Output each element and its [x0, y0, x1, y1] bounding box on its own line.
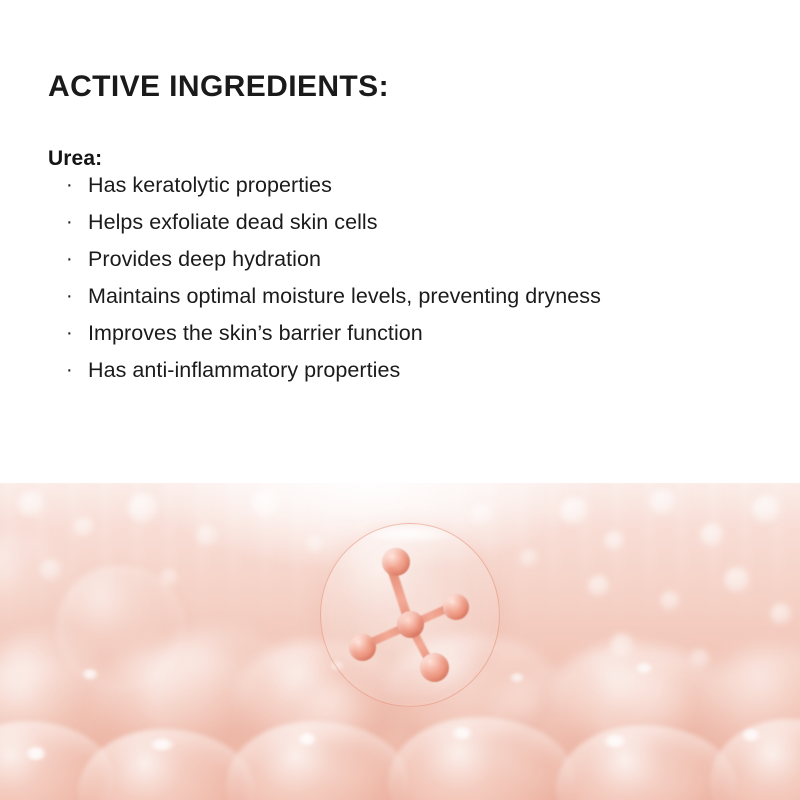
list-item-label: Helps exfoliate dead skin cells	[88, 210, 378, 234]
cell-highlight	[298, 733, 316, 745]
hero-image	[0, 483, 800, 800]
molecule-icon	[321, 524, 499, 706]
list-item: · Helps exfoliate dead skin cells	[62, 207, 622, 238]
bullet-icon: ·	[66, 318, 73, 349]
list-item-label: Provides deep hydration	[88, 247, 321, 271]
cell-highlight	[604, 735, 626, 747]
list-item: · Has keratolytic properties	[62, 170, 622, 201]
cell-highlight	[26, 747, 46, 760]
molecule-hub	[397, 611, 424, 638]
page-title: ACTIVE INGREDIENTS:	[48, 70, 389, 103]
cell-highlight	[510, 673, 524, 682]
bullet-icon: ·	[66, 170, 73, 201]
bullet-icon: ·	[66, 355, 73, 386]
ingredient-benefit-list: · Has keratolytic properties · Helps exf…	[62, 170, 622, 392]
ingredient-name-heading: Urea:	[48, 146, 102, 171]
list-item-label: Has keratolytic properties	[88, 173, 332, 197]
bullet-icon: ·	[66, 244, 73, 275]
cell-highlight	[82, 669, 98, 679]
molecule-bubble	[320, 523, 500, 707]
list-item-label: Improves the skin’s barrier function	[88, 321, 423, 345]
molecule-node	[382, 548, 410, 576]
bullet-icon: ·	[66, 281, 73, 312]
cell-highlight	[742, 729, 760, 741]
molecule-node	[420, 653, 449, 682]
list-item: · Provides deep hydration	[62, 244, 622, 275]
list-item: · Improves the skin’s barrier function	[62, 318, 622, 349]
cell-highlight	[636, 663, 652, 673]
list-item-label: Maintains optimal moisture levels, preve…	[88, 284, 601, 308]
molecule-node	[349, 634, 376, 661]
ingredients-text-panel: ACTIVE INGREDIENTS: Urea: · Has keratoly…	[0, 0, 800, 483]
cell-highlight	[452, 727, 472, 739]
product-info-slide: ACTIVE INGREDIENTS: Urea: · Has keratoly…	[0, 0, 800, 800]
molecule-node	[443, 594, 469, 620]
bullet-icon: ·	[66, 207, 73, 238]
list-item: · Maintains optimal moisture levels, pre…	[62, 281, 622, 312]
list-item-label: Has anti-inflammatory properties	[88, 358, 400, 382]
cell-highlight	[150, 739, 174, 750]
list-item: · Has anti-inflammatory properties	[62, 355, 622, 386]
